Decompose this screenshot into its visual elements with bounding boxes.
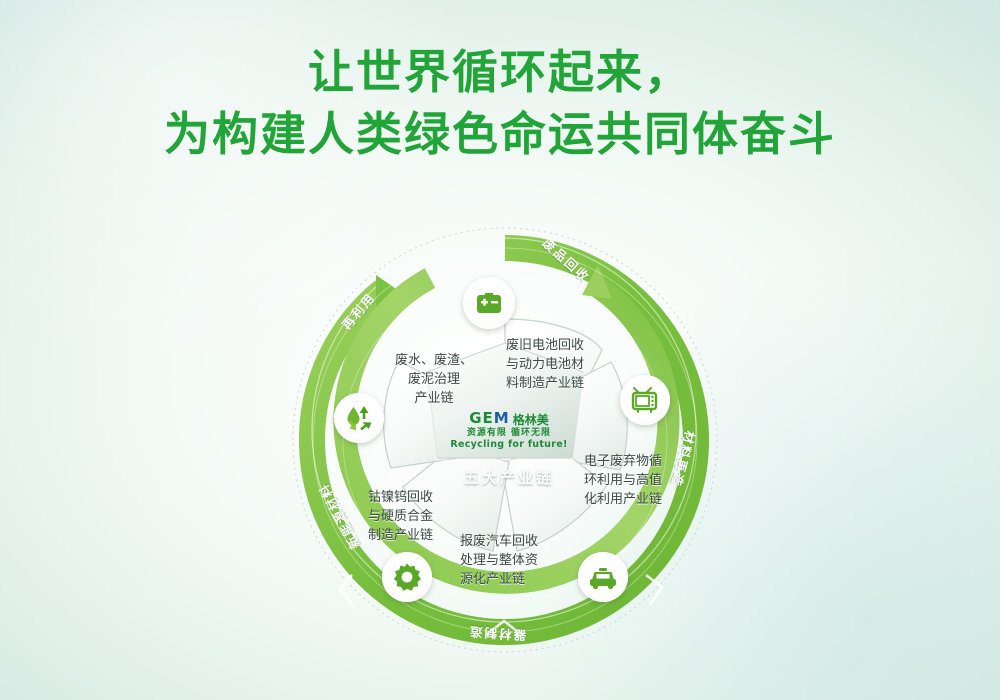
- page-title-line-2: 为构建人类绿色命运共同体奋斗: [0, 104, 1000, 166]
- recycle-drop-icon-bubble[interactable]: [334, 393, 384, 443]
- chain-text-electronics: 电子废弃物循 环利用与高值 化利用产业链: [584, 453, 692, 510]
- chain-text-battery: 废旧电池回收 与动力电池材 料制造产业链: [506, 337, 624, 394]
- battery-icon-bubble[interactable]: [463, 277, 515, 329]
- chain-text-water: 废水、废渣、 废泥治理 产业链: [378, 352, 490, 409]
- ring-label-equipment-manufacture: 器材制造: [467, 623, 526, 646]
- tv-icon-bubble[interactable]: [620, 375, 670, 425]
- recycle-drop-icon: [344, 403, 374, 433]
- center-title: 五大产业链: [464, 467, 554, 488]
- gear-icon-bubble[interactable]: [382, 552, 432, 602]
- page-title: 让世界循环起来， 为构建人类绿色命运共同体奋斗: [0, 42, 1000, 165]
- brand-tagline-en: Recycling for future!: [450, 440, 567, 450]
- brand-tagline-cn: 资源有限 循环无限: [467, 429, 551, 438]
- tv-icon: [630, 385, 660, 415]
- car-icon: [587, 564, 619, 590]
- chain-text-vehicle: 报废汽车回收 处理与整体资 源化产业链: [460, 533, 572, 590]
- page-title-line-1: 让世界循环起来，: [0, 42, 1000, 104]
- center-brand-block: GEM 格林美 资源有限 循环无限 Recycling for future! …: [448, 411, 570, 519]
- brand-mark-cn: 格林美: [513, 414, 549, 426]
- brand-logo: GEM 格林美: [469, 411, 549, 426]
- brand-mark-triangle: M: [494, 409, 510, 427]
- circular-economy-diagram: 再利用 废品回收 材料再造 器材制造 新能源材料: [290, 215, 720, 665]
- battery-icon: [474, 289, 504, 317]
- gear-icon: [392, 562, 422, 592]
- brand-mark-latin: GEM: [469, 411, 510, 426]
- car-icon-bubble[interactable]: [578, 552, 628, 602]
